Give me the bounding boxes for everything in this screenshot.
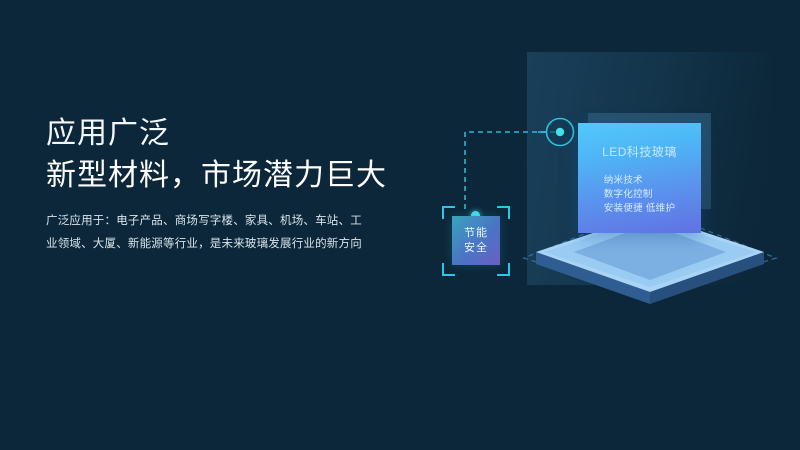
page-title-line-2: 新型材料，市场潜力巨大 [46,154,446,198]
text-block: 应用广泛 新型材料，市场潜力巨大 广泛应用于：电子产品、商场写字楼、家具、机场、… [46,114,446,256]
badge-label-2: 安全 [464,241,488,256]
badge-box: 节能 安全 [452,216,500,265]
page-title-line-1: 应用广泛 [46,114,446,154]
list-item: 数字化控制 [604,188,653,202]
list-item: 安装便捷 低维护 [604,202,676,216]
slide-canvas: 应用广泛 新型材料，市场潜力巨大 广泛应用于：电子产品、商场写字楼、家具、机场、… [0,0,800,450]
badge-label-1: 节能 [464,226,488,241]
body-paragraph: 广泛应用于：电子产品、商场写字楼、家具、机场、车站、工业领域、大厦、新能源等行业… [46,210,371,256]
list-item: 纳米技术 [604,174,643,188]
glass-panel-feature-list: 纳米技术 数字化控制 安装便捷 低维护 [604,174,676,216]
glass-panel-title: LED科技玻璃 [602,144,677,160]
status-badge[interactable]: 节能 安全 [440,205,512,277]
glass-panel[interactable]: LED科技玻璃 纳米技术 数字化控制 安装便捷 低维护 [578,123,701,233]
